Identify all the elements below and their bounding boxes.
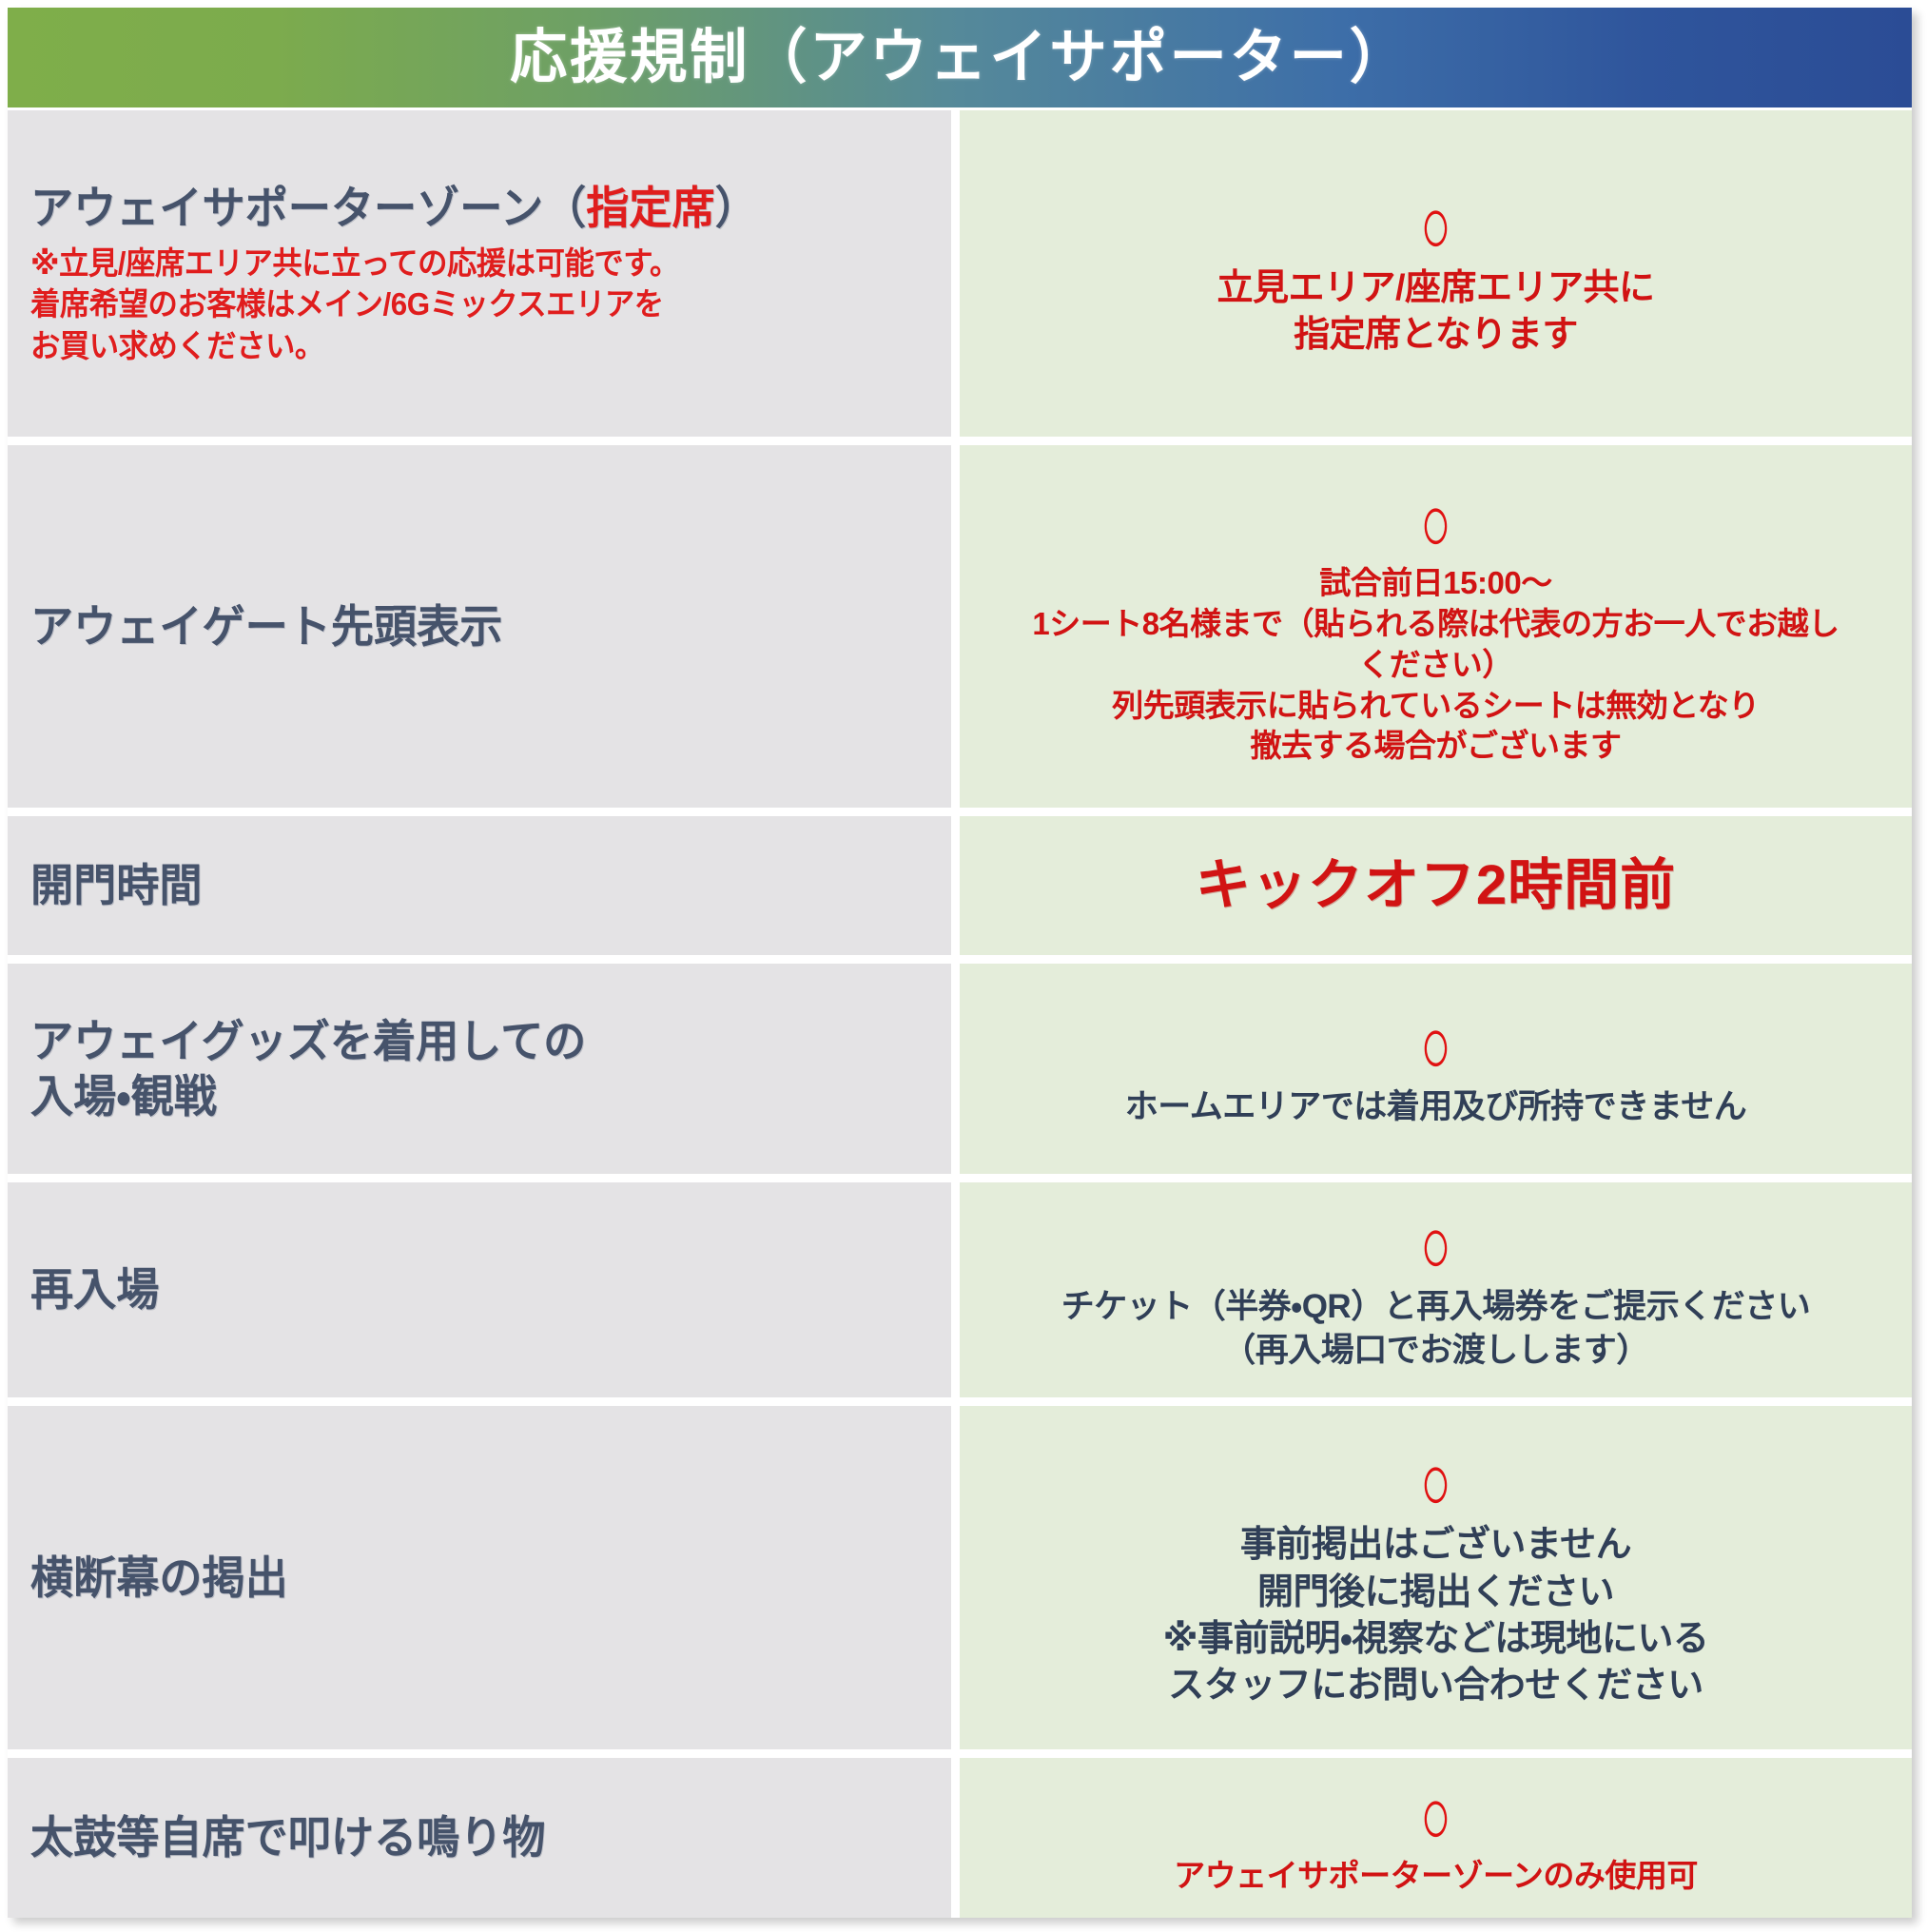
value-line-1: ホームエリアでは着用及び所持できません [979, 1085, 1893, 1129]
label-note-line-3: お買い求めください。 [30, 325, 905, 367]
value-line-4: 列先頭表示に貼られているシートは無効となり [979, 686, 1893, 727]
table-row: アウェイゲート先頭表示 ○ 試合前日15:00～ 1シート8名様まで（貼られる際… [8, 445, 1912, 816]
label-note-line-1: ※立見/座席エリア共に立っての応援は可能です。 [30, 243, 905, 284]
row-label-away-goods-wearing: アウェイグッズを着用しての 入場・観戦 [8, 964, 960, 1182]
row-value-away-gate-head-display: ○ 試合前日15:00～ 1シート8名様まで（貼られる際は代表の方お一人でお越し… [960, 445, 1912, 816]
circle-ok-icon: ○ [1153, 1445, 1720, 1520]
value-line-1: 事前掲出はございません [979, 1522, 1893, 1569]
row-value-away-supporter-zone: ○ 立見エリア/座席エリア共に 指定席となります [960, 110, 1912, 445]
label-main-text: 太鼓等自席で叩ける鳴り物 [30, 1810, 914, 1864]
value-line-2: （再入場口でお渡しします） [979, 1329, 1893, 1373]
label-main-line-1: アウェイグッズを着用しての [30, 1014, 914, 1068]
value-line-1: アウェイサポーターゾーンのみ使用可 [979, 1856, 1893, 1897]
row-label-drums-instruments: 太鼓等自席で叩ける鳴り物 [8, 1758, 960, 1918]
value-line-3: ください） [979, 645, 1893, 686]
row-label-away-supporter-zone: アウェイサポーターゾーン（指定席） ※立見/座席エリア共に立っての応援は可能です… [8, 110, 960, 445]
row-value-away-goods-wearing: ○ ホームエリアでは着用及び所持できません [960, 964, 1912, 1182]
value-line-4: スタッフにお問い合わせください [979, 1663, 1893, 1709]
label-main-text: 再入場 [30, 1262, 914, 1317]
circle-ok-icon: ○ [1153, 1779, 1720, 1854]
label-main-text: 開門時間 [30, 858, 914, 912]
table-row: 再入場 ○ チケット（半券・QR）と再入場券をご提示ください （再入場口でお渡し… [8, 1182, 1912, 1406]
value-line-1: 立見エリア/座席エリア共に [979, 265, 1893, 312]
table-row: アウェイグッズを着用しての 入場・観戦 ○ ホームエリアでは着用及び所持できませ… [8, 964, 1912, 1182]
value-line-2: 指定席となります [979, 312, 1893, 359]
row-label-gate-open-time: 開門時間 [8, 816, 960, 964]
table-header-row: 応援規制（アウェイサポーター） [8, 8, 1912, 110]
value-line-2: 1シート8名様まで（貼られる際は代表の方お一人でお越し [979, 604, 1893, 645]
value-line-1: 試合前日15:00～ [979, 563, 1893, 604]
row-value-banner-display: ○ 事前掲出はございません 開門後に掲出ください ※事前説明・視察などは現地にい… [960, 1406, 1912, 1758]
table-row: 横断幕の掲出 ○ 事前掲出はございません 開門後に掲出ください ※事前説明・視察… [8, 1406, 1912, 1758]
page-title: 応援規制（アウェイサポーター） [36, 29, 1883, 88]
table-row: アウェイサポーターゾーン（指定席） ※立見/座席エリア共に立っての応援は可能です… [8, 110, 1912, 445]
row-value-drums-instruments: ○ アウェイサポーターゾーンのみ使用可 [960, 1758, 1912, 1918]
label-main-text: アウェイゲート先頭表示 [30, 599, 914, 654]
row-label-re-entry: 再入場 [8, 1182, 960, 1406]
table-row: 太鼓等自席で叩ける鳴り物 ○ アウェイサポーターゾーンのみ使用可 [8, 1758, 1912, 1918]
regulations-table: 応援規制（アウェイサポーター） アウェイサポーターゾーン（指定席） ※立見/座席… [8, 8, 1912, 1918]
regulations-page: 応援規制（アウェイサポーター） アウェイサポーターゾーン（指定席） ※立見/座席… [0, 0, 1927, 1932]
header-banner: 応援規制（アウェイサポーター） [8, 8, 1912, 110]
row-value-gate-open-time: キックオフ2時間前 [960, 816, 1912, 964]
label-main-text: 横断幕の掲出 [30, 1551, 914, 1605]
circle-ok-icon: ○ [1153, 188, 1720, 263]
label-suffix: ） [715, 183, 758, 233]
value-line-5: 撤去する場合がございます [979, 726, 1893, 767]
value-line-1: キックオフ2時間前 [979, 855, 1893, 916]
circle-ok-icon: ○ [1153, 1208, 1720, 1283]
label-highlight: 指定席 [586, 183, 714, 233]
row-label-away-gate-head-display: アウェイゲート先頭表示 [8, 445, 960, 816]
row-value-re-entry: ○ チケット（半券・QR）と再入場券をご提示ください （再入場口でお渡しします） [960, 1182, 1912, 1406]
circle-ok-icon: ○ [1153, 1008, 1720, 1083]
row-label-banner-display: 横断幕の掲出 [8, 1406, 960, 1758]
value-line-1: チケット（半券・QR）と再入場券をご提示ください [979, 1285, 1893, 1329]
value-line-3: ※事前説明・視察などは現地にいる [979, 1616, 1893, 1663]
circle-ok-icon: ○ [1153, 486, 1720, 561]
table-row: 開門時間 キックオフ2時間前 [8, 816, 1912, 964]
value-line-2: 開門後に掲出ください [979, 1570, 1893, 1616]
label-note-line-2: 着席希望のお客様はメイン/6Gミックスエリアを [30, 283, 905, 325]
label-main-line-2: 入場・観戦 [30, 1069, 914, 1123]
label-prefix: アウェイサポーターゾーン（ [30, 183, 586, 233]
label-main-text: アウェイサポーターゾーン（指定席） [30, 181, 914, 235]
regulations-table-container: 応援規制（アウェイサポーター） アウェイサポーターゾーン（指定席） ※立見/座席… [8, 8, 1912, 1918]
